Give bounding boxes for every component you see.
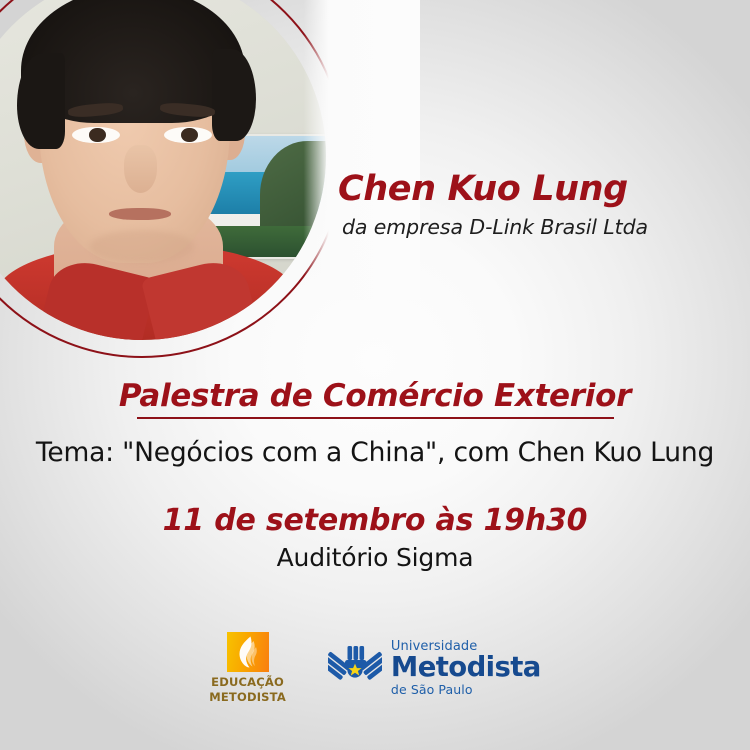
speaker-portrait: [0, 0, 326, 340]
portrait-nose: [124, 145, 157, 193]
logo-universidade-metodista-text: Universidade Metodista de São Paulo: [391, 640, 541, 696]
event-venue: Auditório Sigma: [0, 543, 750, 572]
footer-logos: Educação Metodista: [0, 628, 750, 708]
speaker-name: Chen Kuo Lung: [338, 170, 730, 209]
speaker-photo-block: [0, 0, 326, 340]
event-title: Palestra de Comércio Exterior: [0, 378, 750, 414]
speaker-company: da empresa D-Link Brasil Ltda: [342, 215, 730, 239]
portrait-hair-side-left: [17, 53, 65, 149]
logo-edu-line1: Educação: [209, 675, 286, 689]
logo-educacao-metodista-text: Educação Metodista: [209, 675, 286, 703]
event-poster: Chen Kuo Lung da empresa D-Link Brasil L…: [0, 0, 750, 750]
flame-icon: [227, 632, 269, 672]
event-date: 11 de setembro às 19h30: [0, 503, 750, 538]
logo-uni-line2: Metodista: [391, 654, 541, 682]
portrait-mouth: [109, 208, 172, 221]
logo-universidade-metodista: Universidade Metodista de São Paulo: [328, 640, 541, 696]
logo-edu-line2: Metodista: [209, 690, 286, 704]
logo-uni-line3: de São Paulo: [391, 684, 541, 697]
event-theme: Tema: "Negócios com a China", com Chen K…: [0, 437, 750, 468]
portrait-chin-shadow: [90, 230, 193, 263]
logo-educacao-metodista: Educação Metodista: [209, 632, 286, 703]
speaker-info: Chen Kuo Lung da empresa D-Link Brasil L…: [338, 170, 730, 239]
trinity-dove-icon: [328, 645, 382, 691]
flame-icon-glyph: [235, 636, 261, 668]
title-divider: [137, 417, 614, 419]
